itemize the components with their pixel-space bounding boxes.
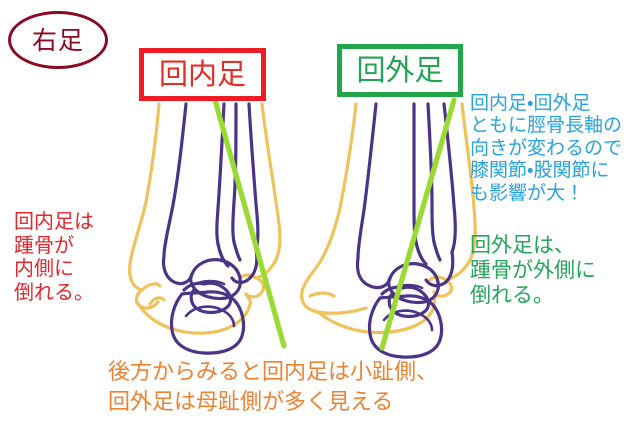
pronation-tarsal-bones <box>171 260 243 353</box>
supination-title-box: 回外足 <box>337 44 463 97</box>
illustration-canvas: 右足 <box>0 0 640 448</box>
supination-title-label: 回外足 <box>356 56 443 85</box>
right-foot-badge: 右足 <box>8 11 108 69</box>
pronation-title-label: 回内足 <box>159 60 246 89</box>
posterior-view-note-text: 後方からみると回内足は小趾側、 回外足は母趾側が多く見える <box>108 358 528 417</box>
pronation-note-text: 回内足は 踵骨が 内側に 倒れる。 <box>14 210 144 304</box>
supination-tibial-axis <box>382 100 454 348</box>
tibial-axis-note-text: 回内足・回外足 ともに脛骨長軸の 向きが変わるので 膝関節・股関節に も影響が大… <box>470 92 640 204</box>
right-foot-badge-label: 右足 <box>32 28 84 53</box>
supination-note-text: 回外足は、 踵骨が外側に 倒れる。 <box>470 233 640 307</box>
pronation-foot-illustration <box>116 98 306 348</box>
supination-foot-illustration <box>296 96 496 351</box>
pronation-title-box: 回内足 <box>139 48 266 101</box>
